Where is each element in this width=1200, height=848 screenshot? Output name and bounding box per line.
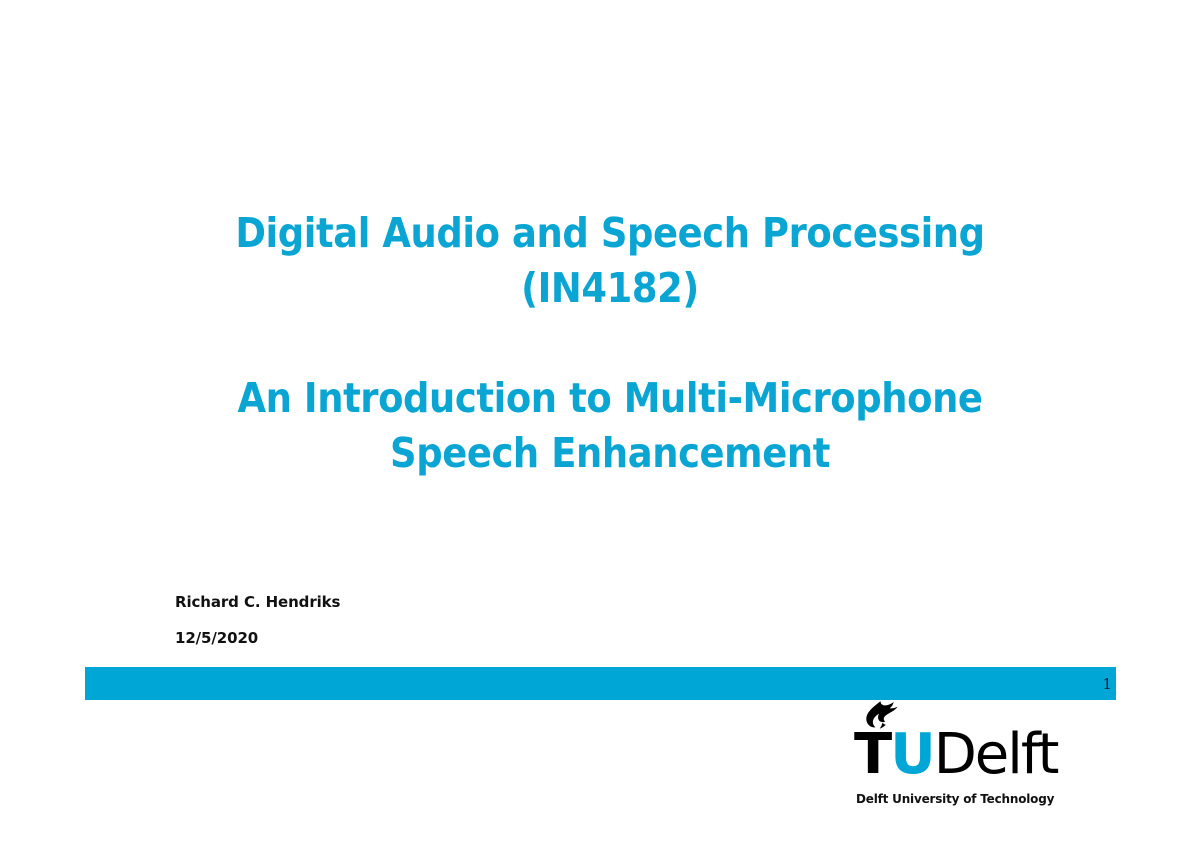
title-line-3: An Introduction to Multi-Microphone [170,371,1050,426]
presentation-slide: Digital Audio and Speech Processing (IN4… [0,0,1200,848]
footer-bar [85,667,1116,700]
title-line-4: Speech Enhancement [170,426,1050,481]
logo-letter-t: T [854,722,890,787]
tu-delft-wordmark: TUDelft [854,725,1058,785]
title-spacer [170,316,1050,371]
title-line-1: Digital Audio and Speech Processing [170,206,1050,261]
presentation-date: 12/5/2020 [175,629,258,647]
title-line-2: (IN4182) [170,261,1050,316]
tu-delft-logo: TUDelft Delft University of Technology [848,700,1048,805]
logo-tagline: Delft University of Technology [856,792,1054,806]
author-name: Richard C. Hendriks [175,593,340,611]
logo-word-delft: Delft [934,722,1058,787]
page-number: 1 [1102,675,1112,693]
slide-title: Digital Audio and Speech Processing (IN4… [170,206,1050,481]
logo-letter-u: U [890,722,933,787]
